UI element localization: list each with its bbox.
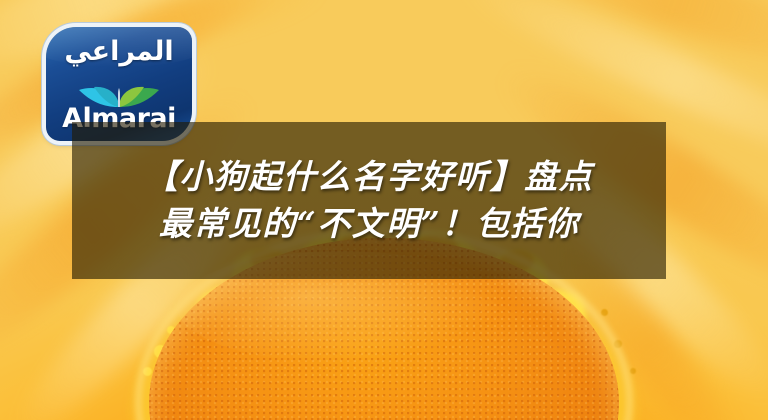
caption-line-1: 【小狗起什么名字好听】盘点 <box>145 156 594 198</box>
banner-image: المراعي Almarai 【小狗起什么名字好听】盘点 最常见的“不文明”！… <box>0 0 768 420</box>
caption-overlay: 【小狗起什么名字好听】盘点 最常见的“不文明”！包括你 <box>72 122 666 279</box>
caption-line-2: 最常见的“不文明”！包括你 <box>159 203 579 245</box>
juice-droplet <box>630 368 636 374</box>
juice-droplet <box>614 340 622 348</box>
logo-arabic-text: المراعي <box>46 38 192 65</box>
juice-droplet <box>601 309 608 316</box>
